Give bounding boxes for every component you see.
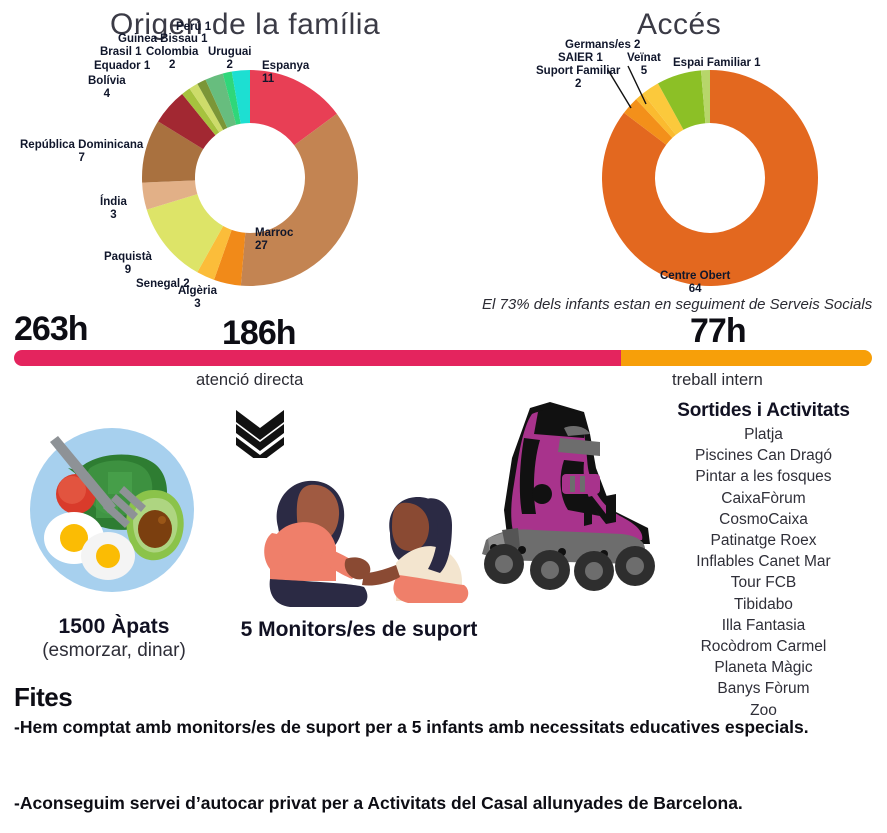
slice-label-saier: SAIER 1 [558,52,603,65]
list-item: Piscines Can Dragó [640,445,887,466]
plate-of-food-icon [12,410,212,615]
list-item: Rocòdrom Carmel [640,636,887,657]
list-item: Inflables Canet Mar [640,551,887,572]
list-item: Planeta Màgic [640,657,887,678]
slice-label-india: Índia3 [100,196,127,222]
list-item: CaixaFòrum [640,488,887,509]
slice-label-republica-dominicana: República Dominicana7 [20,139,143,165]
bar-segment-atencio-directa [14,350,621,366]
slice-label-centre-obert: Centre Obert64 [660,270,730,296]
bar-label-treball-intern: treball intern [672,371,763,390]
infographic-page: Origen de la família Espanya11 Marroc27 … [0,0,887,833]
activities-list: Platja Piscines Can Dragó Pintar a les f… [640,424,887,721]
slice-label-veinat: Veïnat5 [627,52,661,78]
slice-label-espai-familiar: Espai Familiar 1 [673,57,761,70]
monitors-caption: 5 Monitors/es de suport [214,618,504,642]
fites-title: Fites [14,682,72,713]
list-item: CosmoCaixa [640,509,887,530]
slice-label-colombia: Colombia2 [146,46,198,72]
slice-label-paquista: Paquistà9 [104,251,152,277]
hours-stacked-bar [14,350,872,366]
monitors-headline: 5 Monitors/es de suport [214,618,504,642]
acces-footnote: El 73% dels infants estan en seguiment d… [482,296,872,313]
slice-label-senegal: Senegal 2 [136,278,190,291]
list-item: Patinatge Roex [640,530,887,551]
donut-chart-origen [140,68,360,288]
fites-item-2: -Aconseguim servei d’autocar privat per … [14,790,872,817]
rollerskate-icon [472,398,662,603]
slice-label-germans: Germans/es 2 [565,39,640,52]
meals-sub: (esmorzar, dinar) [14,640,214,662]
slice-label-suport-familiar: Suport Familiar2 [536,65,620,91]
hours-direct-value: 186h [222,314,296,353]
list-item: Tibidabo [640,594,887,615]
slice-label-espanya: Espanya11 [262,60,309,86]
slice-label-guinea-bissau: Guinea Bissau 1 [118,33,207,46]
activities-panel: Sortides i Activitats Platja Piscines Ca… [640,400,887,721]
fites-item-1: -Hem comptat amb monitors/es de suport p… [14,714,872,741]
activities-title: Sortides i Activitats [640,400,887,422]
meals-headline: 1500 Àpats [14,615,214,639]
hours-intern-value: 77h [690,312,746,351]
list-item: Pintar a les fosques [640,466,887,487]
slice-label-peru: Perú 1 [176,21,211,34]
list-item: Banys Fòrum [640,678,887,699]
list-item: Illa Fantasia [640,615,887,636]
slice-label-brasil: Brasil 1 [100,46,142,59]
slice-label-bolivia: Bolívia4 [88,75,126,101]
slice-label-uruguai: Uruguai2 [208,46,251,72]
hours-total-value: 263h [14,310,88,349]
bar-segment-treball-intern [621,350,872,366]
two-girls-sitting-icon [240,455,490,620]
chart-title-acces: Accés [637,8,721,42]
list-item: Tour FCB [640,572,887,593]
meals-caption: 1500 Àpats (esmorzar, dinar) [14,615,214,662]
list-item: Platja [640,424,887,445]
slice-label-marroc: Marroc27 [255,227,293,253]
bar-label-atencio-directa: atenció directa [196,371,303,390]
slice-label-equador: Equador 1 [94,60,150,73]
donut-origen-svg [140,68,360,288]
